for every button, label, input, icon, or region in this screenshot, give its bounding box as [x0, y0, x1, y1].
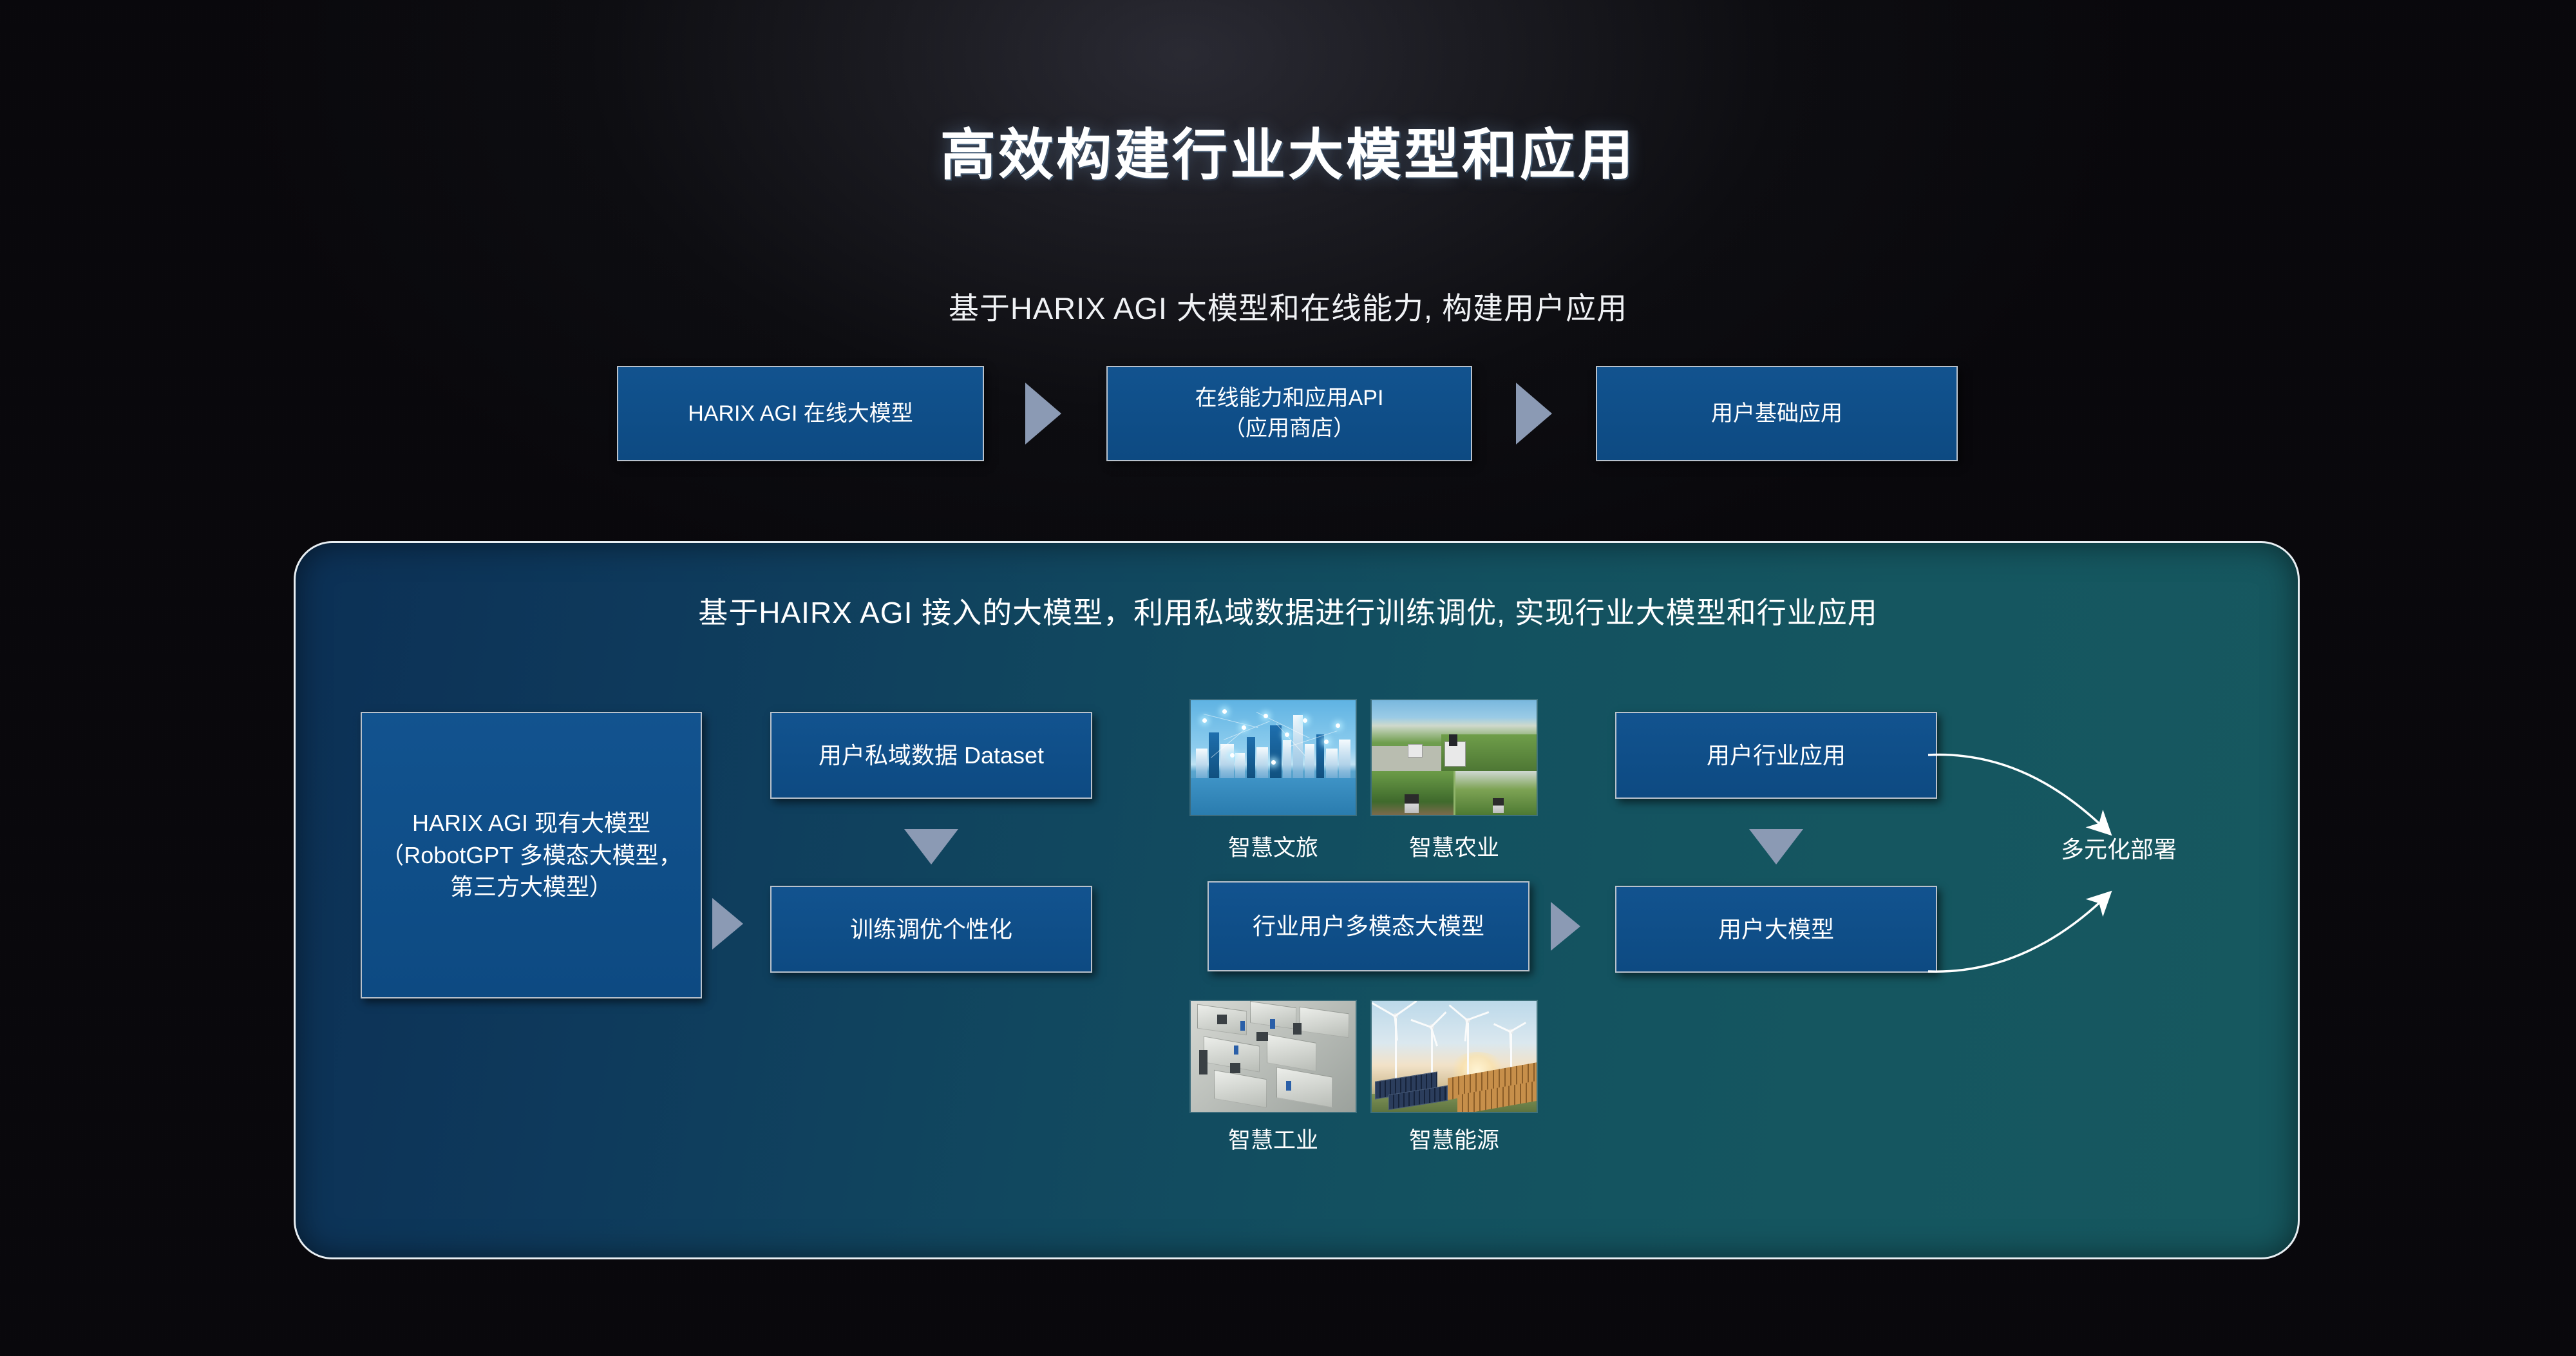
thumbnail-smart-energy[interactable] — [1370, 1000, 1538, 1113]
thumbnail-smart-tourism[interactable] — [1189, 699, 1357, 816]
panel-right-box-industry-app-label: 用户行业应用 — [1707, 740, 1846, 772]
panel-left-box-existing-model[interactable]: HARIX AGI 现有大模型 （RobotGPT 多模态大模型， 第三方大模型… — [361, 712, 702, 998]
panel-heading: 基于HAIRX AGI 接入的大模型，利用私域数据进行训练调优, 实现行业大模型… — [0, 589, 2576, 632]
panel-right-box-user-model[interactable]: 用户大模型 — [1615, 886, 1937, 973]
panel-right-box-user-model-label: 用户大模型 — [1718, 913, 1834, 946]
triangle-right-icon-3 — [712, 898, 743, 950]
triangle-right-icon-2 — [1516, 383, 1552, 444]
panel-left-box-line1: HARIX AGI 现有大模型 — [412, 807, 650, 839]
triangle-down-icon-1 — [904, 829, 958, 864]
panel-mid-box-dataset[interactable]: 用户私域数据 Dataset — [770, 712, 1092, 799]
thumbnail-caption-smart-industry: 智慧工业 — [1177, 1122, 1370, 1155]
smart-city-skyline-image — [1191, 700, 1356, 815]
arrow-model-to-deploy — [1928, 895, 2107, 971]
thumbnail-caption-smart-tourism: 智慧文旅 — [1177, 830, 1370, 863]
panel-left-box-line3: 第三方大模型） — [450, 871, 612, 903]
greenhouse-robots-image — [1372, 700, 1537, 815]
thumbnail-caption-smart-agriculture: 智慧农业 — [1358, 830, 1551, 863]
panel-industry-model-box[interactable]: 行业用户多模态大模型 — [1207, 881, 1529, 971]
top-flow-box-api-store-line1: 在线能力和应用API — [1195, 383, 1384, 414]
top-flow-box-basic-app[interactable]: 用户基础应用 — [1596, 366, 1958, 461]
panel-mid-box-dataset-label: 用户私域数据 Dataset — [819, 740, 1044, 772]
top-flow-box-online-model-label: HARIX AGI 在线大模型 — [688, 399, 913, 429]
page-title: 高效构建行业大模型和应用 — [0, 110, 2576, 190]
triangle-down-icon-2 — [1749, 829, 1803, 864]
triangle-right-icon-1 — [1025, 383, 1061, 444]
thumbnail-smart-agriculture[interactable] — [1370, 699, 1538, 816]
top-flow-box-online-model[interactable]: HARIX AGI 在线大模型 — [617, 366, 984, 461]
top-flow-box-api-store[interactable]: 在线能力和应用API （应用商店） — [1106, 366, 1472, 461]
panel-industry-model-label: 行业用户多模态大模型 — [1253, 910, 1484, 942]
panel-left-box-line2: （RobotGPT 多模态大模型， — [381, 839, 681, 872]
thumbnail-caption-smart-energy: 智慧能源 — [1358, 1122, 1551, 1155]
triangle-right-icon-4 — [1551, 902, 1580, 951]
top-flow-box-basic-app-label: 用户基础应用 — [1711, 399, 1842, 429]
arrow-app-to-deploy — [1928, 755, 2107, 831]
panel-mid-box-training-label: 训练调优个性化 — [850, 913, 1012, 946]
top-flow-box-api-store-line2: （应用商店） — [1224, 414, 1355, 444]
deployment-label: 多元化部署 — [2061, 831, 2177, 864]
thumbnail-smart-industry[interactable] — [1189, 1000, 1357, 1113]
smart-factory-image — [1191, 1001, 1356, 1112]
panel-mid-box-training[interactable]: 训练调优个性化 — [770, 886, 1092, 973]
page-subtitle: 基于HARIX AGI 大模型和在线能力, 构建用户应用 — [0, 283, 2576, 328]
wind-solar-farm-image — [1372, 1001, 1537, 1112]
panel-right-box-industry-app[interactable]: 用户行业应用 — [1615, 712, 1937, 799]
